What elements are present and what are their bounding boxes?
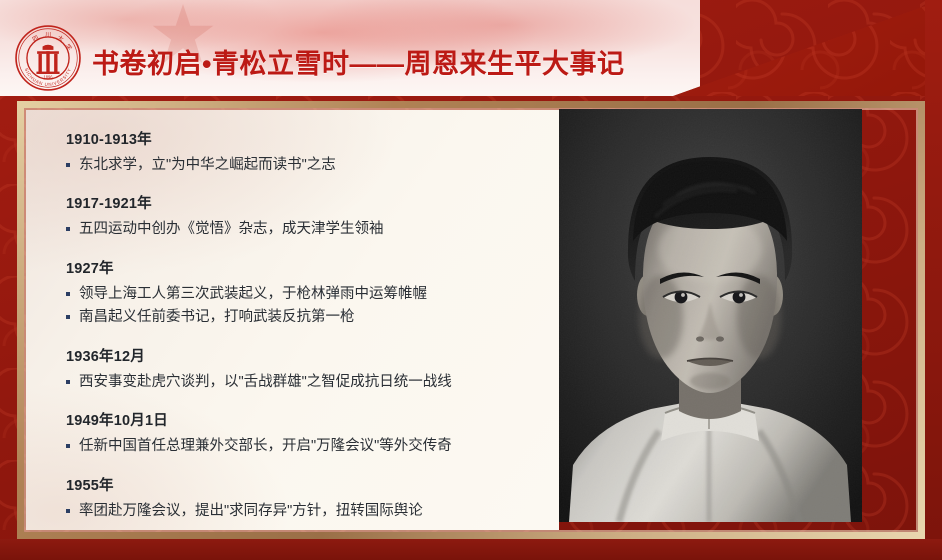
zhou-enlai-portrait-image [559,109,862,522]
timeline-date: 1936年12月 [66,345,559,366]
timeline-item-text: 南昌起义任前委书记，打响武装反抗第一枪 [79,306,559,328]
timeline-date: 1949年10月1日 [66,409,559,430]
timeline-item-text: 任新中国首任总理兼外交部长，开启"万隆会议"等外交传奇 [79,435,559,457]
timeline-entry: 1949年10月1日任新中国首任总理兼外交部长，开启"万隆会议"等外交传奇 [66,409,559,457]
bullet-square-icon [66,292,70,296]
timeline-bullet-item: 率团赴万隆会议，提出"求同存异"方针，扭转国际舆论 [66,500,559,522]
timeline-date: 1910-1913年 [66,128,559,149]
svg-text:学: 学 [64,42,74,52]
timeline-bullet-item: 西安事变赴虎穴谈判，以"舌战群雄"之智促成抗日统一战线 [66,371,559,393]
timeline-bullet-item: 五四运动中创办《觉悟》杂志，成天津学生领袖 [66,218,559,240]
timeline-item-text: 东北求学，立"为中华之崛起而读书"之志 [79,154,559,176]
slide-header: 四 川 大 学 SICHUAN UNIVERSITY 1896 书卷初启•青松立… [0,0,942,96]
bullet-square-icon [66,444,70,448]
timeline-bullet-item: 南昌起义任前委书记，打响武装反抗第一枪 [66,306,559,328]
timeline-entry: 1927年领导上海工人第三次武装起义，于枪林弹雨中运筹帷幄南昌起义任前委书记，打… [66,257,559,329]
timeline-bullet-item: 任新中国首任总理兼外交部长，开启"万隆会议"等外交传奇 [66,435,559,457]
right-red-gutter [925,0,942,560]
bullet-square-icon [66,227,70,231]
timeline-panel: 1910-1913年东北求学，立"为中华之崛起而读书"之志1917-1921年五… [26,110,559,530]
timeline-list: 1910-1913年东北求学，立"为中华之崛起而读书"之志1917-1921年五… [26,110,559,530]
timeline-item-text: 五四运动中创办《觉悟》杂志，成天津学生领袖 [79,218,559,240]
timeline-entry: 1910-1913年东北求学，立"为中华之崛起而读书"之志 [66,128,559,176]
timeline-item-text: 领导上海工人第三次武装起义，于枪林弹雨中运筹帷幄 [79,283,559,305]
portrait-photo [559,109,862,522]
bullet-square-icon [66,163,70,167]
presentation-slide: 四 川 大 学 SICHUAN UNIVERSITY 1896 书卷初启•青松立… [0,0,942,560]
svg-text:四: 四 [31,34,40,43]
bullet-square-icon [66,509,70,513]
timeline-date: 1927年 [66,257,559,278]
timeline-date: 1917-1921年 [66,192,559,213]
bullet-square-icon [66,380,70,384]
timeline-bullet-item: 东北求学，立"为中华之崛起而读书"之志 [66,154,559,176]
svg-text:1896: 1896 [43,74,53,79]
bottom-red-gutter [0,539,942,560]
timeline-bullet-item: 领导上海工人第三次武装起义，于枪林弹雨中运筹帷幄 [66,283,559,305]
bullet-square-icon [66,315,70,319]
page-title: 书卷初启•青松立雪时——周恩来生平大事记 [92,42,624,81]
svg-text:川: 川 [45,32,51,39]
timeline-entry: 1936年12月西安事变赴虎穴谈判，以"舌战群雄"之智促成抗日统一战线 [66,345,559,393]
timeline-item-text: 西安事变赴虎穴谈判，以"舌战群雄"之智促成抗日统一战线 [79,371,559,393]
timeline-date: 1955年 [66,474,559,495]
timeline-entry: 1917-1921年五四运动中创办《觉悟》杂志，成天津学生领袖 [66,192,559,240]
sichuan-university-logo-icon: 四 川 大 学 SICHUAN UNIVERSITY 1896 [14,24,82,92]
svg-text:大: 大 [56,34,65,44]
timeline-entry: 1955年率团赴万隆会议，提出"求同存异"方针，扭转国际舆论 [66,474,559,522]
timeline-item-text: 率团赴万隆会议，提出"求同存异"方针，扭转国际舆论 [79,500,559,522]
